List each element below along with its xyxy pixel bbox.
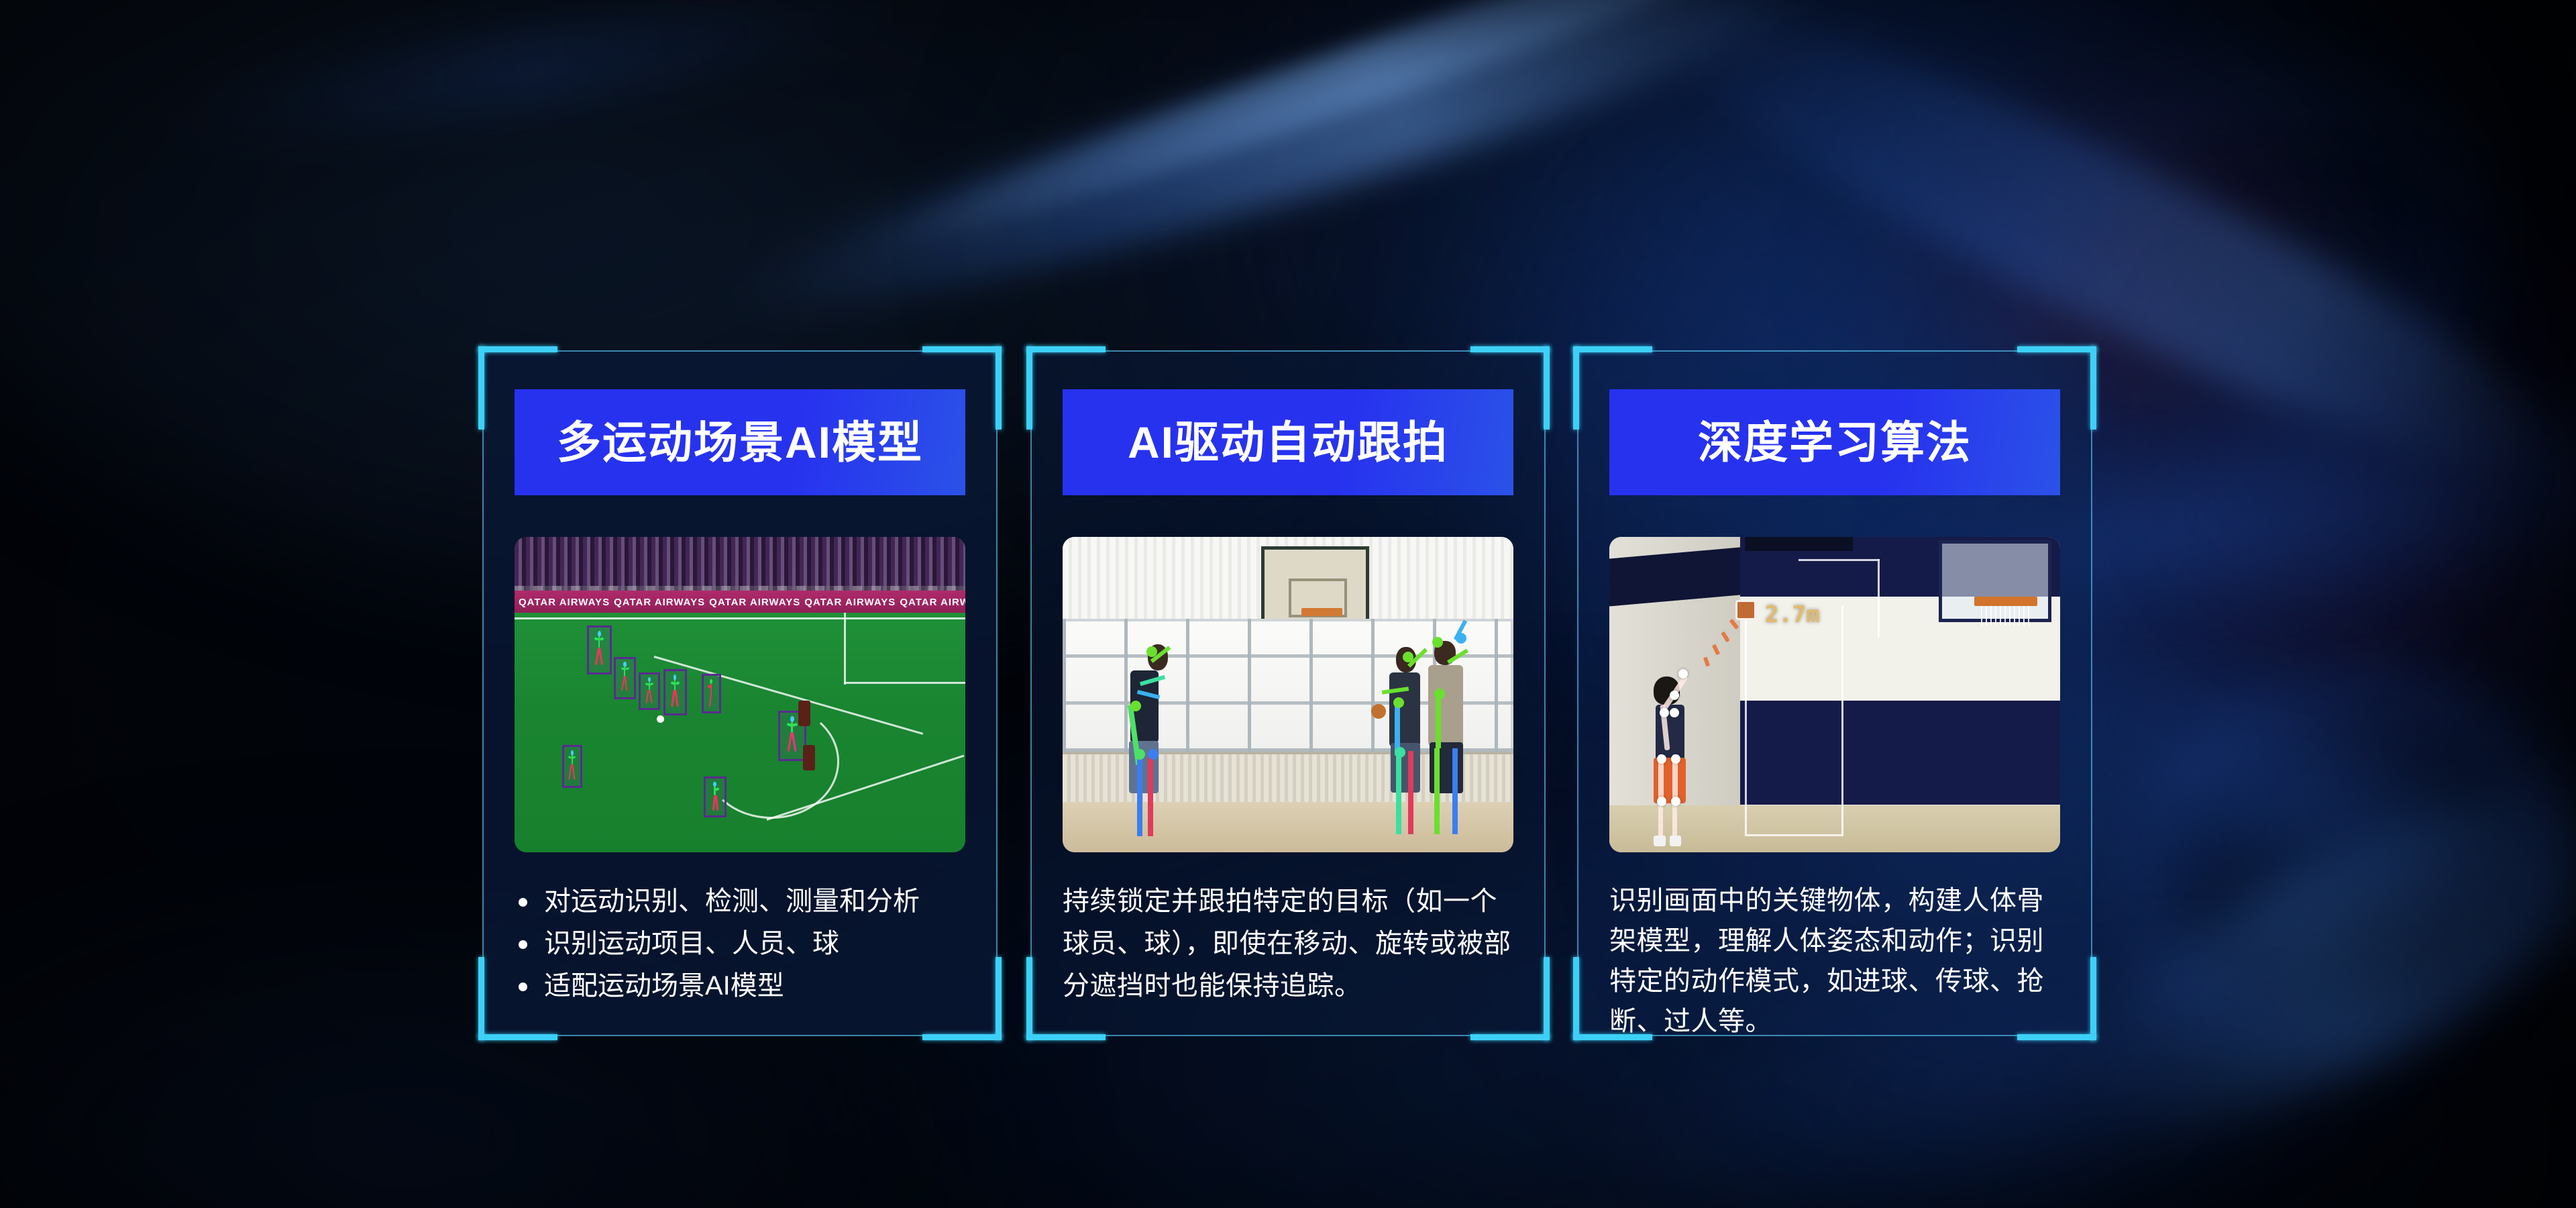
- hoop-net: [1981, 606, 2031, 625]
- soccer-pitch: [515, 613, 965, 852]
- detection-box: [704, 776, 727, 817]
- feature-description: 识别画面中的关键物体，构建人体骨架模型，理解人体姿态和动作；识别特定的动作模式，…: [1609, 880, 2060, 1042]
- card-title: 深度学习算法: [1698, 420, 1972, 464]
- card-title: 多运动场景AI模型: [557, 420, 923, 464]
- ball-bounding-box: [1735, 600, 1756, 620]
- feature-card-multi-sport-ai-model[interactable]: 多运动场景AI模型 QATAR AIRWAYS QATAR AIRWAYSQAT…: [482, 350, 998, 1036]
- sponsor-banner: QATAR AIRWAYS QATAR AIRWAYSQATAR AIRWAYS…: [515, 591, 965, 614]
- feature-card-ai-auto-tracking[interactable]: AI驱动自动跟拍: [1030, 350, 1546, 1036]
- list-item: 对运动识别、检测、测量和分析: [515, 880, 965, 923]
- keypoint: [1671, 797, 1680, 806]
- sponsor-banner-text: QATAR AIRWAYS: [515, 597, 610, 608]
- measurement-box: [1745, 606, 1844, 836]
- detection-box: [702, 674, 722, 713]
- list-item: 适配运动场景AI模型: [515, 965, 965, 1007]
- card-title-bar: 深度学习算法: [1609, 389, 2060, 495]
- list-item: 识别运动项目、人员、球: [515, 923, 965, 965]
- keypoint: [1670, 691, 1679, 700]
- soccer-pose-detection-image: QATAR AIRWAYS QATAR AIRWAYSQATAR AIRWAYS…: [515, 537, 965, 852]
- player-skeleton: [1419, 628, 1495, 843]
- keypoint: [1657, 754, 1666, 764]
- card-title: AI驱动自动跟拍: [1128, 420, 1448, 464]
- player-skeleton: [1117, 644, 1185, 846]
- hoop-rim: [1974, 597, 2037, 606]
- detection-box: [639, 672, 660, 710]
- detection-box: [587, 625, 612, 674]
- card-title-bar: 多运动场景AI模型: [515, 389, 965, 495]
- soccer-ball: [657, 715, 664, 723]
- detection-box: [663, 669, 687, 715]
- hoop: [1301, 608, 1342, 616]
- detection-box: [614, 657, 637, 699]
- opponent-player: [803, 745, 814, 770]
- keypoint: [1671, 754, 1680, 764]
- card-title-bar: AI驱动自动跟拍: [1063, 389, 1513, 495]
- measurement-guide-vertical: [1878, 559, 1880, 638]
- feature-card-deep-learning-algorithm[interactable]: 深度学习算法: [1577, 350, 2092, 1036]
- measurement-label: 2.7m: [1765, 601, 1820, 628]
- basketball-shot-measurement-image: 2.7m: [1609, 537, 2060, 852]
- feature-bullet-list: 对运动识别、检测、测量和分析 识别运动项目、人员、球 适配运动场景AI模型: [515, 880, 965, 1008]
- scoreboard: [1745, 537, 1853, 551]
- opponent-player: [798, 701, 810, 726]
- feature-description: 持续锁定并跟拍特定的目标（如一个球员、球），即使在移动、旋转或被部分遮挡时也能保…: [1063, 880, 1513, 1008]
- basketball-gym-pose-image: [1063, 537, 1513, 852]
- keypoint: [1657, 797, 1666, 806]
- player-skeleton: [1641, 669, 1713, 846]
- detection-box: [562, 745, 583, 787]
